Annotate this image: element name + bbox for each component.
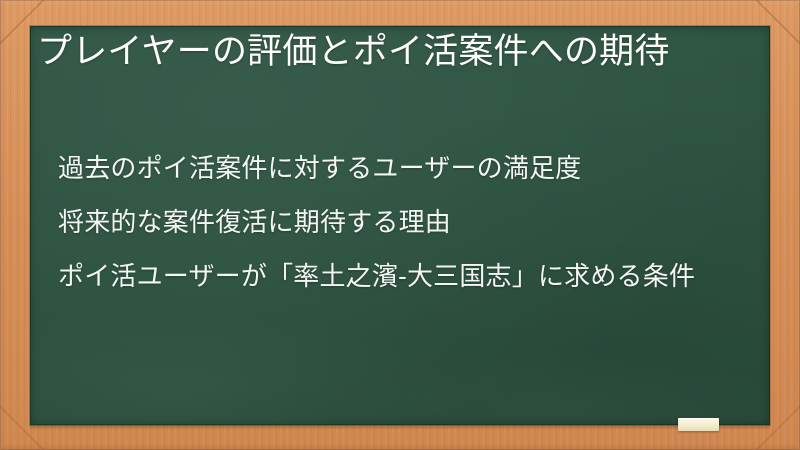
bullet-list: 過去のポイ活案件に対するユーザーの満足度 将来的な案件復活に期待する理由 ポイ活… [58, 150, 730, 295]
blackboard-slide: プレイヤーの評価とポイ活案件への期待 過去のポイ活案件に対するユーザーの満足度 … [0, 0, 800, 450]
chalkboard-surface: プレイヤーの評価とポイ活案件への期待 過去のポイ活案件に対するユーザーの満足度 … [30, 26, 770, 425]
bullet-item-1: 過去のポイ活案件に対するユーザーの満足度 [58, 150, 730, 187]
slide-title: プレイヤーの評価とポイ活案件への期待 [37, 29, 737, 75]
board-content: プレイヤーの評価とポイ活案件への期待 過去のポイ活案件に対するユーザーの満足度 … [30, 26, 770, 425]
bullet-item-3: ポイ活ユーザーが「率土之濱-大三国志」に求める条件 [58, 258, 730, 295]
bullet-item-2: 将来的な案件復活に期待する理由 [58, 204, 730, 241]
